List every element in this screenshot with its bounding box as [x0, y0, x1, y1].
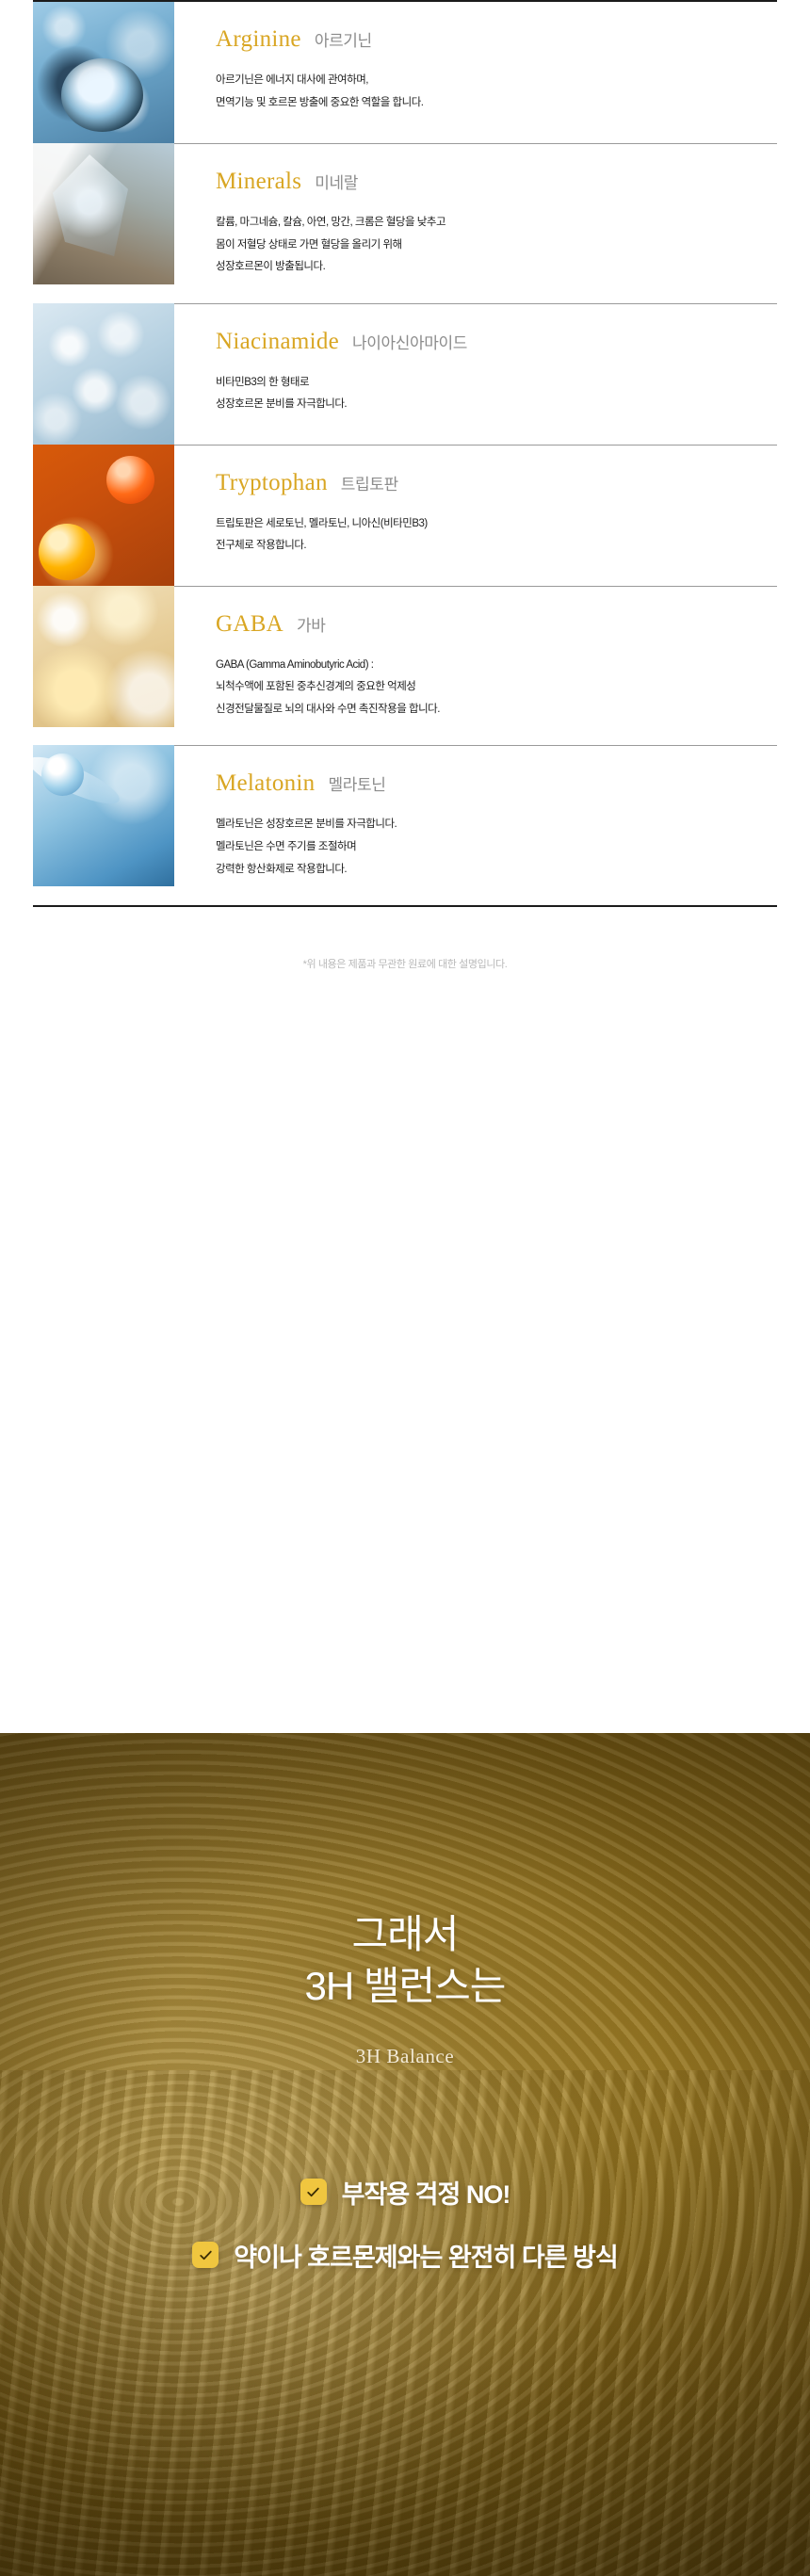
description-line: 강력한 항산화제로 작용합니다. — [216, 859, 777, 882]
ingredient-name-en: Arginine — [216, 26, 301, 53]
description-line: 전구체로 작용합니다. — [216, 535, 777, 558]
description-line: 몸이 저혈당 상태로 가면 혈당을 올리기 위해 — [216, 235, 777, 257]
ingredient-row: Melatonin 멜라토닌 멜라토닌은 성장호르몬 분비를 자극합니다. 멜라… — [33, 745, 777, 905]
banner-headline-line1: 그래서 — [0, 1908, 810, 1960]
ingredient-row: Tryptophan 트립토판 트립토판은 세로토닌, 멜라토닌, 니아신(비타… — [33, 445, 777, 586]
description-line: 성장호르몬 분비를 자극합니다. — [216, 394, 777, 416]
banner-subtitle: 3H Balance — [0, 2045, 810, 2068]
ingredient-photo-gaba — [33, 586, 174, 727]
description-line: 성장호르몬이 방출됩니다. — [216, 256, 777, 279]
ingredient-name-en: Melatonin — [216, 770, 315, 797]
banner-headline: 그래서 3H 밸런스는 — [0, 1733, 810, 2013]
ingredient-name-en: GABA — [216, 611, 283, 638]
ingredient-text: Arginine 아르기닌 아르기닌은 에너지 대사에 관여하며, 면역기능 및… — [174, 2, 777, 143]
description-line: 트립토판은 세로토닌, 멜라토닌, 니아신(비타민B3) — [216, 513, 777, 536]
ingredient-name-ko: 아르기닌 — [315, 27, 372, 51]
check-icon — [300, 2179, 327, 2205]
ingredient-text: Minerals 미네랄 칼륨, 마그네슘, 칼슘, 아연, 망간, 크롬은 혈… — [174, 143, 777, 303]
description-line: GABA (Gamma Aminobutyric Acid) : — [216, 655, 777, 677]
ingredient-text: Melatonin 멜라토닌 멜라토닌은 성장호르몬 분비를 자극합니다. 멜라… — [174, 745, 777, 905]
ingredient-photo-tryptophan — [33, 445, 174, 586]
ingredient-name-ko: 트립토판 — [341, 471, 398, 494]
ingredient-name-ko: 나이아신아마이드 — [352, 330, 467, 353]
disclaimer-note: *위 내용은 제품과 무관한 원료에 대한 설명입니다. — [0, 907, 810, 971]
ingredient-name-en: Minerals — [216, 169, 301, 195]
ingredients-section: Arginine 아르기닌 아르기닌은 에너지 대사에 관여하며, 면역기능 및… — [0, 0, 810, 971]
description-line: 면역기능 및 호르몬 방출에 중요한 역할을 합니다. — [216, 92, 777, 115]
banner-bullet-item: 약이나 호르몬제와는 완전히 다른 방식 — [192, 2237, 617, 2274]
description-line: 뇌척수액에 포함된 중추신경계의 중요한 억제성 — [216, 676, 777, 699]
ingredient-description: 칼륨, 마그네슘, 칼슘, 아연, 망간, 크롬은 혈당을 낮추고 몸이 저혈당… — [216, 212, 777, 279]
ingredient-name-en: Tryptophan — [216, 470, 328, 496]
description-line: 칼륨, 마그네슘, 칼슘, 아연, 망간, 크롬은 혈당을 낮추고 — [216, 212, 777, 235]
banner-bullet-list: 부작용 걱정 NO! 약이나 호르몬제와는 완전히 다른 방식 — [0, 2174, 810, 2274]
ingredient-name-ko: 멜라토닌 — [328, 771, 385, 795]
ingredient-row: GABA 가바 GABA (Gamma Aminobutyric Acid) :… — [33, 586, 777, 746]
banner-bullet-item: 부작용 걱정 NO! — [300, 2174, 510, 2211]
description-line: 비타민B3의 한 형태로 — [216, 372, 777, 395]
ingredient-heading: GABA 가바 — [216, 611, 777, 638]
ingredient-name-ko: 가바 — [297, 612, 325, 636]
ingredient-heading: Arginine 아르기닌 — [216, 26, 777, 53]
ingredient-heading: Niacinamide 나이아신아마이드 — [216, 329, 777, 355]
ingredient-text: Tryptophan 트립토판 트립토판은 세로토닌, 멜라토닌, 니아신(비타… — [174, 445, 777, 586]
ingredient-description: 트립토판은 세로토닌, 멜라토닌, 니아신(비타민B3) 전구체로 작용합니다. — [216, 513, 777, 558]
banner-bullet-label: 약이나 호르몬제와는 완전히 다른 방식 — [234, 2237, 617, 2274]
ingredient-photo-arginine — [33, 2, 174, 143]
ingredient-name-ko: 미네랄 — [315, 170, 358, 193]
banner-bullet-label: 부작용 걱정 NO! — [342, 2174, 510, 2211]
check-icon — [192, 2242, 219, 2268]
description-line: 멜라토닌은 성장호르몬 분비를 자극합니다. — [216, 814, 777, 836]
description-line: 신경전달물질로 뇌의 대사와 수면 촉진작용을 합니다. — [216, 699, 777, 721]
ingredient-description: 멜라토닌은 성장호르몬 분비를 자극합니다. 멜라토닌은 수면 주기를 조절하며… — [216, 814, 777, 881]
ingredient-row: Niacinamide 나이아신아마이드 비타민B3의 한 형태로 성장호르몬 … — [33, 303, 777, 445]
ingredient-text: Niacinamide 나이아신아마이드 비타민B3의 한 형태로 성장호르몬 … — [174, 303, 777, 445]
ingredient-heading: Melatonin 멜라토닌 — [216, 770, 777, 797]
ingredient-heading: Tryptophan 트립토판 — [216, 470, 777, 496]
ingredient-heading: Minerals 미네랄 — [216, 169, 777, 195]
ingredient-name-en: Niacinamide — [216, 329, 339, 355]
description-line: 멜라토닌은 수면 주기를 조절하며 — [216, 836, 777, 859]
description-line: 아르기닌은 에너지 대사에 관여하며, — [216, 70, 777, 92]
ingredient-description: 비타민B3의 한 형태로 성장호르몬 분비를 자극합니다. — [216, 372, 777, 416]
ingredient-description: 아르기닌은 에너지 대사에 관여하며, 면역기능 및 호르몬 방출에 중요한 역… — [216, 70, 777, 114]
ingredient-photo-minerals — [33, 143, 174, 284]
banner-headline-line2: 3H 밸런스는 — [0, 1960, 810, 2012]
ingredient-row: Arginine 아르기닌 아르기닌은 에너지 대사에 관여하며, 면역기능 및… — [33, 2, 777, 143]
ingredient-photo-niacinamide — [33, 303, 174, 445]
ingredient-photo-melatonin — [33, 745, 174, 886]
ingredient-row: Minerals 미네랄 칼륨, 마그네슘, 칼슘, 아연, 망간, 크롬은 혈… — [33, 143, 777, 303]
ingredient-description: GABA (Gamma Aminobutyric Acid) : 뇌척수액에 포… — [216, 655, 777, 721]
ingredient-text: GABA 가바 GABA (Gamma Aminobutyric Acid) :… — [174, 586, 777, 746]
brand-banner-section: 그래서 3H 밸런스는 3H Balance 부작용 걱정 NO! 약이 — [0, 1733, 810, 2576]
